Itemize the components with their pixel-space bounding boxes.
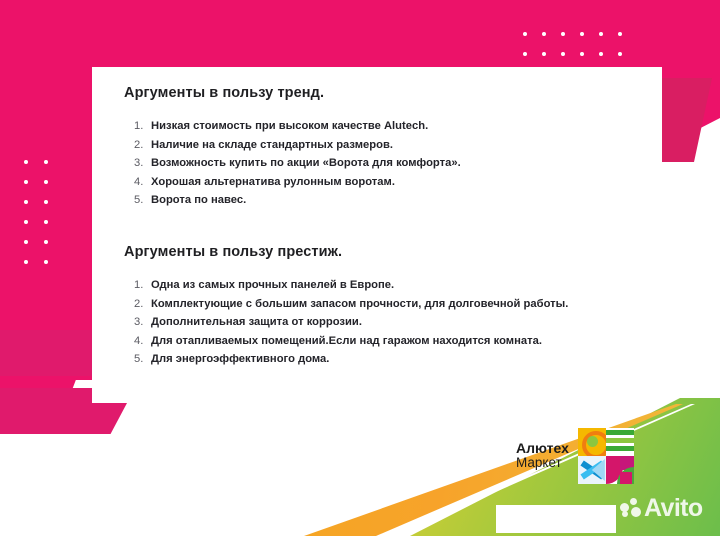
dot-icon xyxy=(618,32,622,36)
left-dot xyxy=(16,212,36,232)
brand-name-primary: Алютех xyxy=(516,441,569,456)
dot-icon xyxy=(44,180,48,184)
top-right-dot xyxy=(553,44,572,64)
left-dot xyxy=(36,252,56,272)
dot-icon xyxy=(542,52,546,56)
argument-list: Одна из самых прочных панелей в Европе.К… xyxy=(124,276,636,369)
left-dot xyxy=(16,232,36,252)
top-right-dot xyxy=(610,44,629,64)
left-dot xyxy=(16,152,36,172)
dot-icon xyxy=(523,52,527,56)
dot-icon xyxy=(24,220,28,224)
dot-grid-left xyxy=(16,152,56,272)
dot-icon xyxy=(44,160,48,164)
dot-icon xyxy=(44,240,48,244)
argument-section: Аргументы в пользу престиж.Одна из самых… xyxy=(124,244,636,369)
avito-watermark: Avito xyxy=(620,494,703,523)
dot-icon xyxy=(580,52,584,56)
list-item: Дополнительная защита от коррозии. xyxy=(134,313,636,332)
top-right-dot xyxy=(515,44,534,64)
dot-icon xyxy=(523,32,527,36)
section-title: Аргументы в пользу тренд. xyxy=(124,85,636,101)
dot-icon xyxy=(44,260,48,264)
dot-icon xyxy=(44,220,48,224)
bottom-white-notch xyxy=(496,505,616,533)
top-right-dot xyxy=(534,24,553,44)
content-card: Аргументы в пользу тренд.Низкая стоимост… xyxy=(92,67,662,403)
brand-name-secondary: Маркет xyxy=(516,456,569,471)
logo-quadrant-cross-icon xyxy=(578,456,606,484)
sections-container: Аргументы в пользу тренд.Низкая стоимост… xyxy=(92,67,662,369)
dot-icon xyxy=(542,32,546,36)
list-item: Возможность купить по акции «Ворота для … xyxy=(134,154,636,173)
dot-icon xyxy=(561,52,565,56)
dot-icon xyxy=(599,32,603,36)
top-right-dot xyxy=(572,44,591,64)
dot-icon xyxy=(24,260,28,264)
left-dot xyxy=(36,152,56,172)
dot-icon xyxy=(44,200,48,204)
top-right-dot xyxy=(591,24,610,44)
dot-icon xyxy=(24,180,28,184)
avito-dots-icon xyxy=(620,498,641,519)
argument-section: Аргументы в пользу тренд.Низкая стоимост… xyxy=(124,85,636,210)
list-item: Ворота по навес. xyxy=(134,191,636,210)
slide-canvas: Аргументы в пользу тренд.Низкая стоимост… xyxy=(0,0,720,536)
left-dot xyxy=(16,192,36,212)
dot-grid-top-right xyxy=(515,24,629,64)
logo-quadrant-petals-icon xyxy=(606,456,634,484)
top-right-dot xyxy=(610,24,629,44)
alutech-market-logo-icon xyxy=(578,428,634,484)
list-item: Для энергоэффективного дома. xyxy=(134,350,636,369)
logo-quadrant-spiral-icon xyxy=(578,428,606,456)
dot-icon xyxy=(580,32,584,36)
list-item: Комплектующие с большим запасом прочност… xyxy=(134,295,636,314)
left-dot xyxy=(36,192,56,212)
list-item: Низкая стоимость при высоком качестве Al… xyxy=(134,117,636,136)
brand-text: Алютех Маркет xyxy=(516,441,569,471)
list-item: Для отапливаемых помещений.Если над гара… xyxy=(134,332,636,351)
section-title: Аргументы в пользу престиж. xyxy=(124,244,636,260)
top-right-dot xyxy=(591,44,610,64)
list-item: Наличие на складе стандартных размеров. xyxy=(134,136,636,155)
left-dot xyxy=(36,212,56,232)
left-dot xyxy=(36,232,56,252)
list-item: Хорошая альтернатива рулонным воротам. xyxy=(134,173,636,192)
list-item: Одна из самых прочных панелей в Европе. xyxy=(134,276,636,295)
dot-icon xyxy=(618,52,622,56)
dot-icon xyxy=(24,160,28,164)
avito-wordmark: Avito xyxy=(644,494,703,523)
dot-icon xyxy=(599,52,603,56)
left-dot xyxy=(36,172,56,192)
argument-list: Низкая стоимость при высоком качестве Al… xyxy=(124,117,636,210)
dot-icon xyxy=(24,200,28,204)
top-right-dot xyxy=(572,24,591,44)
dot-icon xyxy=(24,240,28,244)
brand-lockup: Алютех Маркет xyxy=(516,428,634,484)
logo-quadrant-stripes-icon xyxy=(606,428,634,456)
top-right-dot xyxy=(553,24,572,44)
dot-icon xyxy=(561,32,565,36)
top-right-dot xyxy=(515,24,534,44)
left-dot xyxy=(16,252,36,272)
left-dot xyxy=(16,172,36,192)
top-right-dot xyxy=(534,44,553,64)
